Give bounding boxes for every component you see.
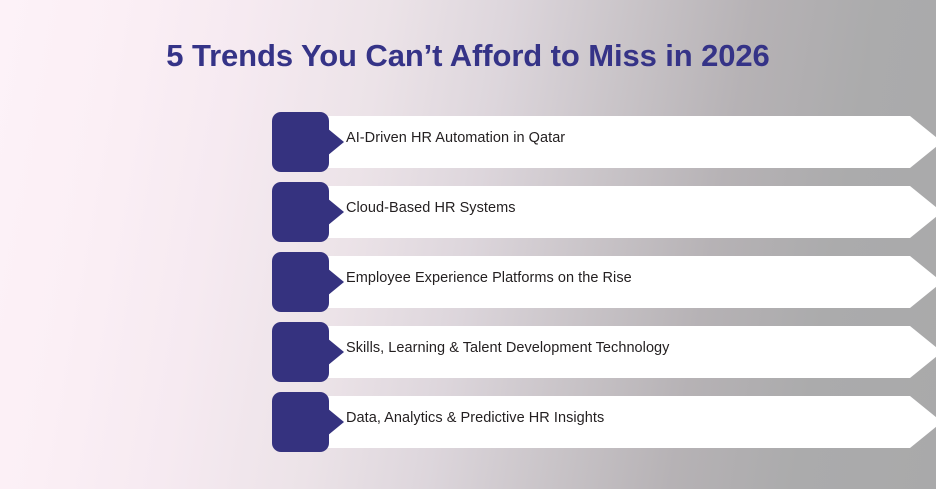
tile-arrow-pointer — [327, 338, 344, 366]
trend-row[interactable]: Cloud-Based HR Systems — [272, 182, 672, 242]
trend-list: AI-Driven HR Automation in Qatar — [272, 112, 672, 452]
trend-row[interactable]: AI-Driven HR Automation in Qatar — [272, 112, 672, 172]
trend-icon-tile — [272, 182, 329, 242]
trend-row[interactable]: Data, Analytics & Predictive HR Insights — [272, 392, 672, 452]
tile-arrow-pointer — [327, 268, 344, 296]
trend-row[interactable]: Skills, Learning & Talent Development Te… — [272, 322, 672, 382]
trend-icon-tile — [272, 252, 329, 312]
page-title: 5 Trends You Can’t Afford to Miss in 202… — [0, 38, 936, 74]
trend-row[interactable]: Employee Experience Platforms on the Ris… — [272, 252, 672, 312]
trend-icon-tile — [272, 112, 329, 172]
trend-label: AI-Driven HR Automation in Qatar — [346, 112, 565, 164]
tile-arrow-pointer — [327, 128, 344, 156]
tile-arrow-pointer — [327, 408, 344, 436]
trend-label: Skills, Learning & Talent Development Te… — [346, 322, 669, 374]
trend-label: Cloud-Based HR Systems — [346, 182, 516, 234]
trend-label: Data, Analytics & Predictive HR Insights — [346, 392, 604, 444]
trend-icon-tile — [272, 322, 329, 382]
infographic-canvas: 5 Trends You Can’t Afford to Miss in 202… — [0, 0, 936, 489]
trend-label: Employee Experience Platforms on the Ris… — [346, 252, 632, 304]
trend-icon-tile — [272, 392, 329, 452]
tile-arrow-pointer — [327, 198, 344, 226]
